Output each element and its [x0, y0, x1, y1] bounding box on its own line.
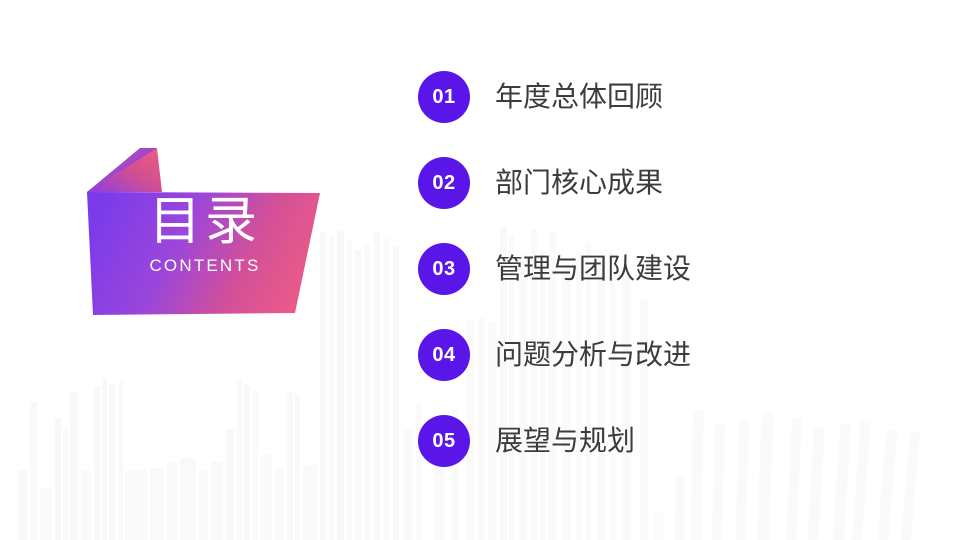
contents-number-badge-03: 03 [418, 243, 470, 295]
contents-item-04[interactable]: 04 问题分析与改进 [418, 329, 691, 381]
contents-number-badge-05: 05 [418, 415, 470, 467]
ribbon-shape-icon [70, 140, 340, 330]
contents-item-label-05: 展望与规划 [495, 425, 635, 457]
contents-number-badge-04: 04 [418, 329, 470, 381]
presentation-slide: 目录 CONTENTS 01 年度总体回顾 02 部门核心成果 03 管理与团队… [0, 0, 960, 540]
contents-item-label-03: 管理与团队建设 [495, 253, 691, 285]
contents-number-badge-01: 01 [418, 71, 470, 123]
contents-item-03[interactable]: 03 管理与团队建设 [418, 243, 691, 295]
contents-item-label-04: 问题分析与改进 [495, 339, 691, 371]
contents-ribbon-banner: 目录 CONTENTS [70, 140, 340, 330]
contents-number-badge-02: 02 [418, 157, 470, 209]
table-of-contents-list: 01 年度总体回顾 02 部门核心成果 03 管理与团队建设 04 问题分析与改… [418, 71, 691, 467]
contents-item-01[interactable]: 01 年度总体回顾 [418, 71, 691, 123]
contents-item-label-01: 年度总体回顾 [495, 81, 663, 113]
contents-item-label-02: 部门核心成果 [495, 167, 663, 199]
contents-item-05[interactable]: 05 展望与规划 [418, 415, 691, 467]
contents-item-02[interactable]: 02 部门核心成果 [418, 157, 691, 209]
